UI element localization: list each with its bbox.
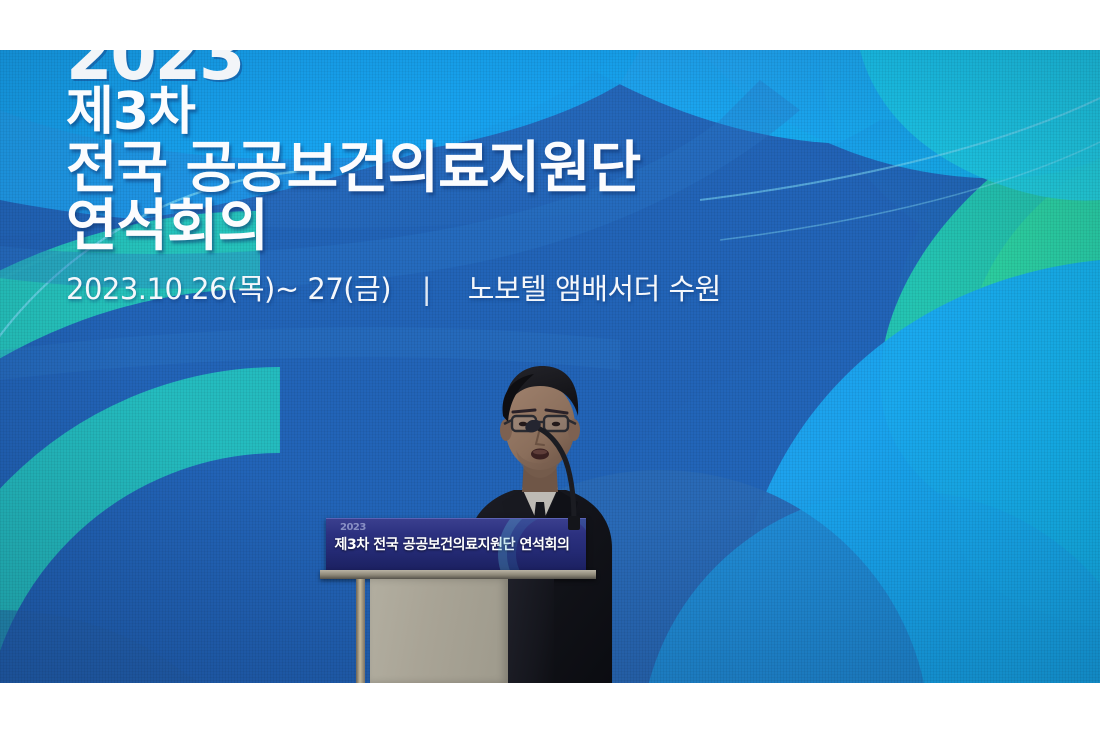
title-line-1: 제3차: [66, 84, 826, 140]
meta-separator: |: [400, 272, 453, 306]
lectern-sign-year: 2023: [340, 522, 366, 533]
letterbox-top: [0, 0, 1100, 50]
lectern: 2023 제3차 전국 공공보건의료지원단 연석회의: [326, 518, 626, 683]
title-line-3: 연석회의: [66, 196, 826, 258]
event-meta: 2023.10.26(목)~ 27(금) | 노보텔 앰배서더 수원: [66, 272, 826, 306]
backdrop-headline: 2023 제3차 전국 공공보건의료지원단 연석회의 2023.10.26(목)…: [66, 50, 826, 306]
lectern-leg-left: [356, 579, 365, 683]
lectern-sign-text: 제3차 전국 공공보건의료지원단 연석회의: [326, 536, 586, 554]
event-schedule: 2023.10.26(목)~ 27(금): [66, 272, 391, 306]
letterbox-bottom: [0, 683, 1100, 734]
title-line-2: 전국 공공보건의료지원단: [66, 138, 826, 200]
lectern-top-rail: [320, 570, 596, 579]
event-venue: 노보텔 앰배서더 수원: [462, 272, 721, 306]
gooseneck-microphone: [522, 420, 612, 530]
lectern-side-panel: [508, 579, 554, 683]
lectern-front-panel: [370, 579, 508, 683]
event-photo-stage: 2023 제3차 전국 공공보건의료지원단 연석회의 2023.10.26(목)…: [0, 0, 1100, 734]
